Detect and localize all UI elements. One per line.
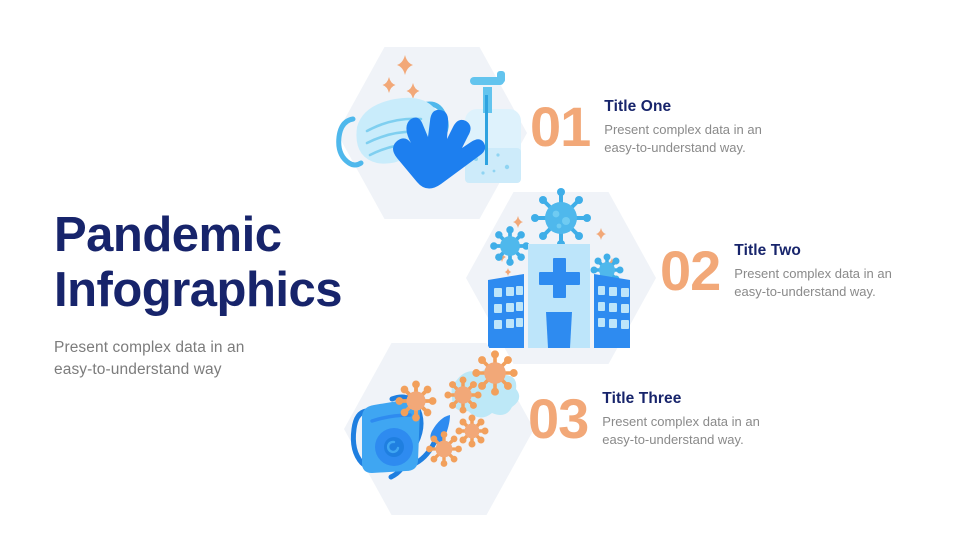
info-item-3: 03 Title Three Present complex data in a… [528, 388, 760, 450]
hexagon-panel-3 [344, 343, 534, 515]
item-description-1: Present complex data in an easy-to-under… [604, 121, 762, 158]
illustration-respirator-viruses [344, 343, 534, 515]
sparkles-icon [383, 55, 420, 99]
item-number-01: 01 [530, 99, 590, 155]
page-title: Pandemic Infographics [54, 208, 354, 319]
illustration-hospital-viruses [466, 192, 656, 364]
hexagon-panel-2 [466, 192, 656, 364]
item-title-1: Title One [604, 98, 762, 116]
item-number-02: 02 [660, 243, 720, 299]
item-text-3: Title Three Present complex data in an e… [602, 388, 760, 450]
item-title-2: Title Two [734, 242, 892, 260]
item-text-2: Title Two Present complex data in an eas… [734, 240, 892, 302]
item-description-3: Present complex data in an easy-to-under… [602, 413, 760, 450]
item-title-3: Title Three [602, 390, 760, 408]
item-number-03: 03 [528, 391, 588, 447]
hand-sanitizer-icon [465, 71, 521, 183]
item-description-2: Present complex data in an easy-to-under… [734, 265, 892, 302]
info-item-2: 02 Title Two Present complex data in an … [660, 240, 892, 302]
title-block: Pandemic Infographics Present complex da… [54, 208, 354, 382]
page-subtitle: Present complex data in an easy-to-under… [54, 337, 354, 382]
slide-canvas: Pandemic Infographics Present complex da… [0, 0, 980, 551]
info-item-1: 01 Title One Present complex data in an … [530, 96, 762, 158]
item-text-1: Title One Present complex data in an eas… [604, 96, 762, 158]
